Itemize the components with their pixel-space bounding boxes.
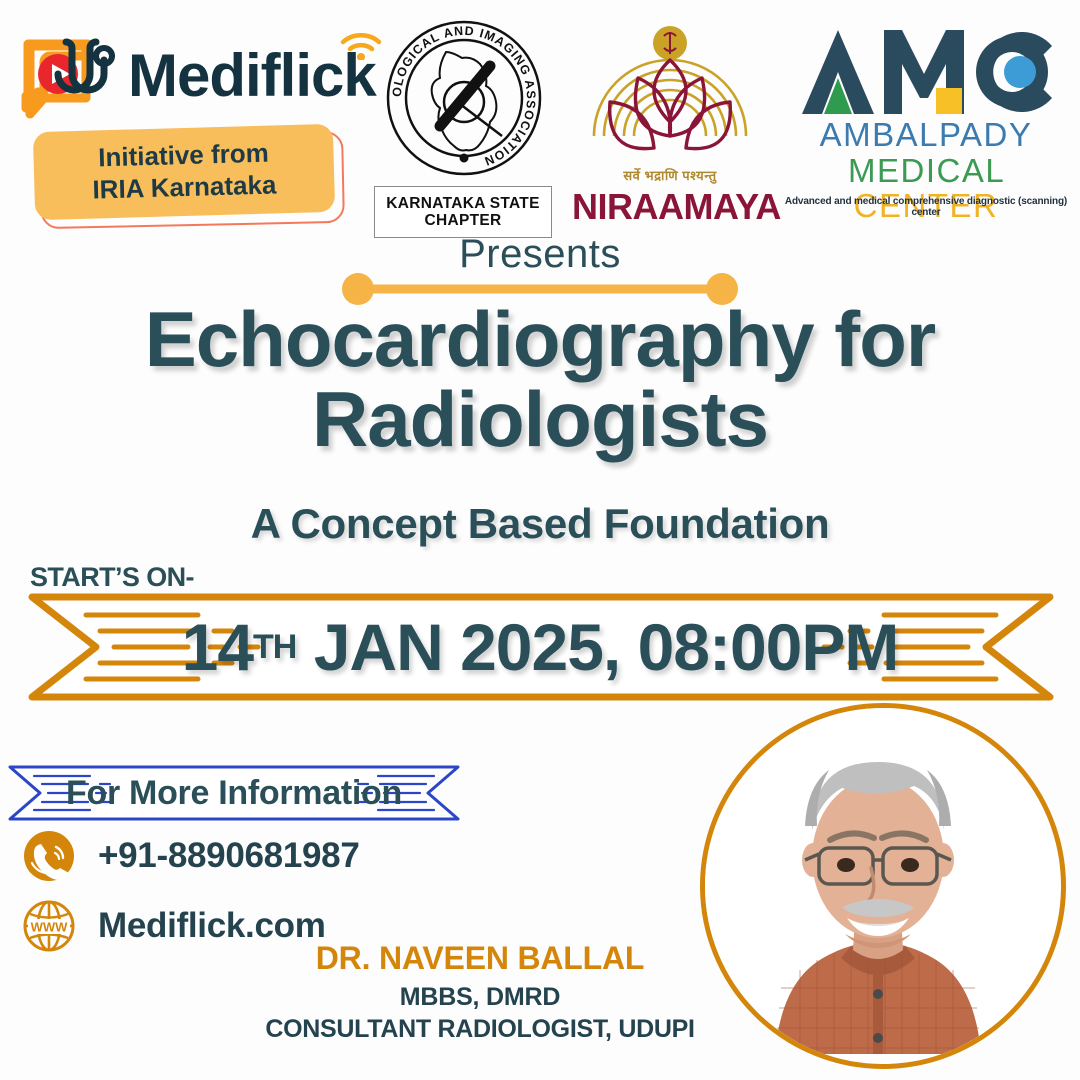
speaker-role: CONSULTANT RADIOLOGIST, UDUPI [230, 1015, 730, 1044]
niraamaya-logo: सर्वे भद्राणि पश्यन्तु NIRAAMAYA [572, 18, 768, 230]
date-ordinal: TH [253, 628, 296, 667]
contact-row-phone[interactable]: +91-8890681987 [22, 826, 482, 886]
event-title: Echocardiography for Radiologists [0, 300, 1080, 459]
iria-chapter-line-2: CHAPTER [424, 212, 501, 229]
phone-icon [22, 829, 76, 883]
badge-line-2: IRIA Karnataka [92, 169, 277, 206]
niraamaya-wordmark: NIRAAMAYA [572, 186, 768, 228]
event-title-line-1: Echocardiography for [0, 300, 1080, 380]
initiative-badge: Initiative from IRIA Karnataka [34, 128, 354, 224]
event-title-line-2: Radiologists [0, 380, 1080, 460]
amc-tagline: Advanced and medical comprehensive diagn… [782, 196, 1070, 218]
phone-number: +91-8890681987 [98, 836, 359, 876]
date-day: 14 [182, 609, 253, 685]
event-poster: Mediflick Initiative from IRIA Karnataka [0, 0, 1080, 1080]
speaker-name: DR. NAVEEN BALLAL [250, 940, 710, 977]
speaker-photo [700, 703, 1066, 1069]
iria-emblem-icon: INDIAN RADIOLOGICAL AND IMAGING ASSOCIAT… [384, 18, 544, 178]
event-date-time: 14TH JAN 2025, 08:00PM [0, 593, 1080, 701]
niraamaya-sanskrit-motto: सर्वे भद्राणि पश्यन्तु [572, 166, 768, 184]
starts-on-label: START’S ON- [30, 562, 194, 593]
logo-row: Mediflick Initiative from IRIA Karnataka [0, 0, 1080, 232]
date-rest: JAN 2025, 08:00PM [314, 609, 899, 685]
mediflick-logo: Mediflick [18, 28, 358, 128]
mediflick-wordmark: Mediflick [128, 32, 376, 120]
amc-name-line-1: AMBALPADY [782, 118, 1070, 153]
iria-chapter-line-1: KARNATAKA STATE [386, 195, 539, 212]
speaker-degrees: MBBS, DMRD [250, 983, 710, 1012]
svg-text:WWW: WWW [31, 920, 69, 935]
badge-line-1: Initiative from [98, 138, 269, 174]
event-subtitle: A Concept Based Foundation [0, 500, 1080, 548]
info-heading: For More Information [8, 765, 460, 821]
niraamaya-lotus-icon [580, 18, 760, 178]
mediflick-play-stethoscope-icon [18, 36, 123, 124]
iria-chapter-box: KARNATAKA STATE CHAPTER [374, 186, 552, 238]
amc-monogram-icon [798, 26, 1056, 118]
globe-www-icon: WWW [22, 899, 76, 953]
amc-logo: AMBALPADY MEDICAL CENTER Advanced and me… [782, 26, 1070, 230]
presents-label: Presents [0, 232, 1080, 277]
amc-medical-word: MEDICAL [848, 152, 1004, 189]
iria-logo: INDIAN RADIOLOGICAL AND IMAGING ASSOCIAT… [368, 18, 558, 230]
